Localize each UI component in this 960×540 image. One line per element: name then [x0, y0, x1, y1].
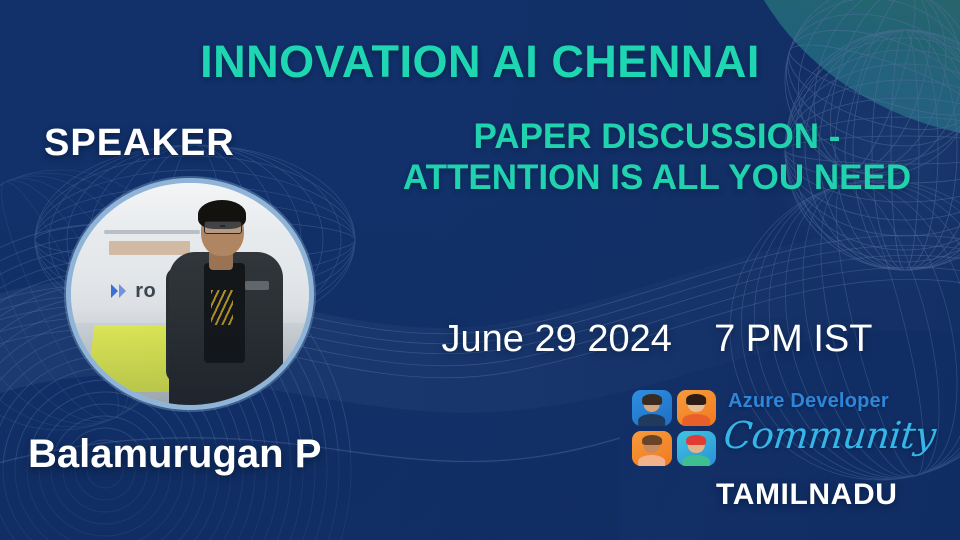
avatar-tile-bearded-man	[632, 390, 672, 426]
speaker-name: Balamurugan P	[28, 432, 321, 477]
speaker-photo: ro	[66, 178, 314, 410]
logo-brand-line2: Community	[722, 414, 938, 457]
community-logo: Azure Developer Community TAMILNADU	[632, 388, 932, 528]
poster-title: INNOVATION AI CHENNAI	[0, 36, 960, 88]
speaker-photo-image: ro	[71, 183, 309, 405]
avatar-tile-person-red-cap	[677, 431, 717, 467]
poster-subtitle: PAPER DISCUSSION - ATTENTION IS ALL YOU …	[392, 116, 922, 199]
event-poster: INNOVATION AI CHENNAI SPEAKER ro	[0, 0, 960, 540]
event-datetime: June 29 2024 7 PM IST	[392, 318, 922, 361]
avatar-tile-grid	[632, 390, 716, 466]
photo-vignette	[71, 183, 309, 405]
speaker-label: SPEAKER	[44, 122, 235, 165]
logo-brand-line1: Azure Developer	[728, 390, 889, 413]
logo-chapter-name: TAMILNADU	[716, 478, 897, 512]
avatar-tile-person-afro	[632, 431, 672, 467]
avatar-tile-woman-dark-hair	[677, 390, 717, 426]
